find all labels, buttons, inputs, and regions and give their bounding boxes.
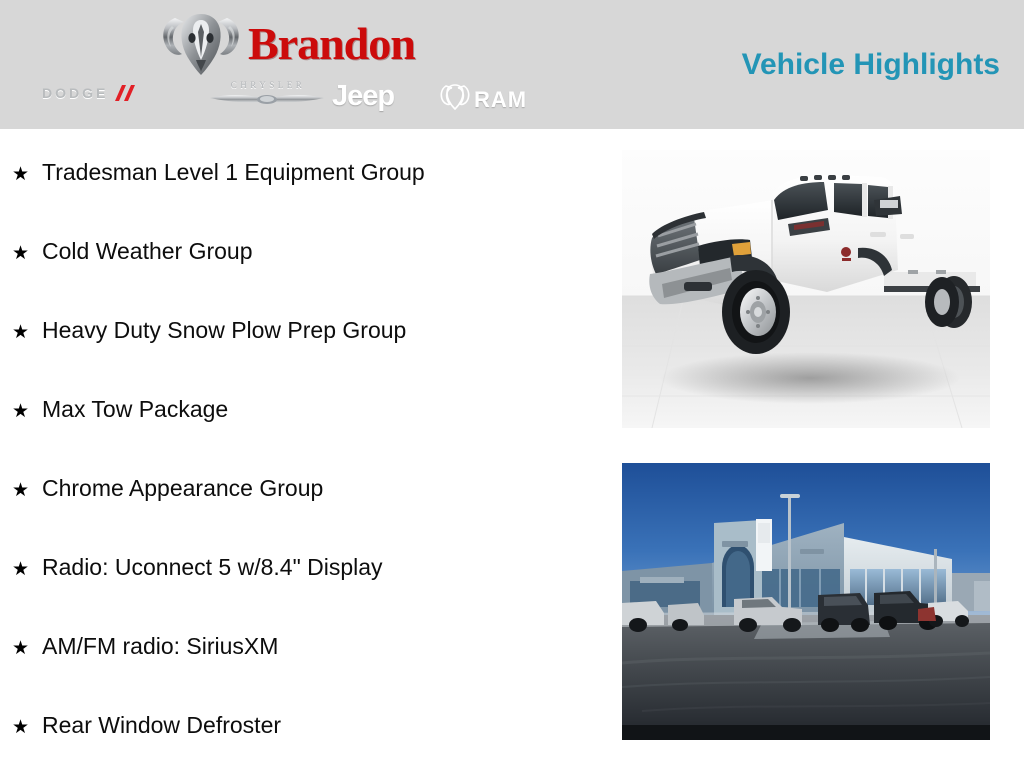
- star-bullet-icon: ★: [12, 240, 42, 268]
- list-item-label: Radio: Uconnect 5 w/8.4" Display: [42, 553, 383, 581]
- list-item: ★ AM/FM radio: SiriusXM: [12, 632, 612, 662]
- list-item: ★ Cold Weather Group: [12, 237, 612, 267]
- list-item: ★ Tradesman Level 1 Equipment Group: [12, 158, 612, 188]
- list-item: ★ Rear Window Defroster: [12, 711, 612, 741]
- dealer-name: Brandon: [248, 20, 415, 68]
- page-title: Vehicle Highlights: [742, 48, 1000, 82]
- list-item: ★ Max Tow Package: [12, 395, 612, 425]
- page-header: Brandon DODGE CHRYSLER: [0, 0, 1024, 129]
- chrysler-wings-icon: [208, 91, 328, 108]
- star-bullet-icon: ★: [12, 556, 42, 584]
- brand-logo-dodge[interactable]: DODGE: [42, 84, 137, 102]
- ram-wordmark: RAM: [474, 89, 527, 111]
- list-item-label: Tradesman Level 1 Equipment Group: [42, 158, 425, 186]
- list-item-label: Cold Weather Group: [42, 237, 253, 265]
- dealer-logo-main: Brandon: [160, 12, 415, 76]
- brand-logo-ram[interactable]: RAM: [440, 84, 527, 115]
- list-item: ★ Radio: Uconnect 5 w/8.4" Display: [12, 553, 612, 583]
- vehicle-highlights-list: ★ Tradesman Level 1 Equipment Group ★ Co…: [0, 140, 610, 760]
- list-item-label: Heavy Duty Snow Plow Prep Group: [42, 316, 406, 344]
- list-item-label: Chrome Appearance Group: [42, 474, 323, 502]
- brand-logos-row: DODGE CHRYSLER: [40, 80, 540, 116]
- list-item: ★ Heavy Duty Snow Plow Prep Group: [12, 316, 612, 346]
- dealer-logo[interactable]: Brandon DODGE CHRYSLER: [40, 8, 540, 120]
- dodge-wordmark: DODGE: [42, 85, 108, 101]
- dealership-photo[interactable]: [622, 463, 990, 740]
- star-bullet-icon: ★: [12, 161, 42, 189]
- star-bullet-icon: ★: [12, 319, 42, 347]
- ram-head-icon: [440, 84, 470, 115]
- chrysler-wordmark: CHRYSLER: [208, 80, 328, 90]
- list-item-label: Max Tow Package: [42, 395, 228, 423]
- star-bullet-icon: ★: [12, 635, 42, 663]
- dodge-slashes-icon: [111, 84, 137, 102]
- brand-logo-jeep[interactable]: Jeep: [332, 81, 394, 111]
- star-bullet-icon: ★: [12, 398, 42, 426]
- star-bullet-icon: ★: [12, 477, 42, 505]
- brand-logo-chrysler[interactable]: CHRYSLER: [208, 80, 328, 108]
- jeep-wordmark: Jeep: [332, 80, 394, 112]
- list-item: ★ Chrome Appearance Group: [12, 474, 612, 504]
- star-bullet-icon: ★: [12, 714, 42, 742]
- ram-head-icon: [160, 12, 242, 76]
- list-item-label: AM/FM radio: SiriusXM: [42, 632, 278, 660]
- vehicle-photo[interactable]: [622, 150, 990, 428]
- list-item-label: Rear Window Defroster: [42, 711, 281, 739]
- vehicle-highlights-page: Brandon DODGE CHRYSLER: [0, 0, 1024, 768]
